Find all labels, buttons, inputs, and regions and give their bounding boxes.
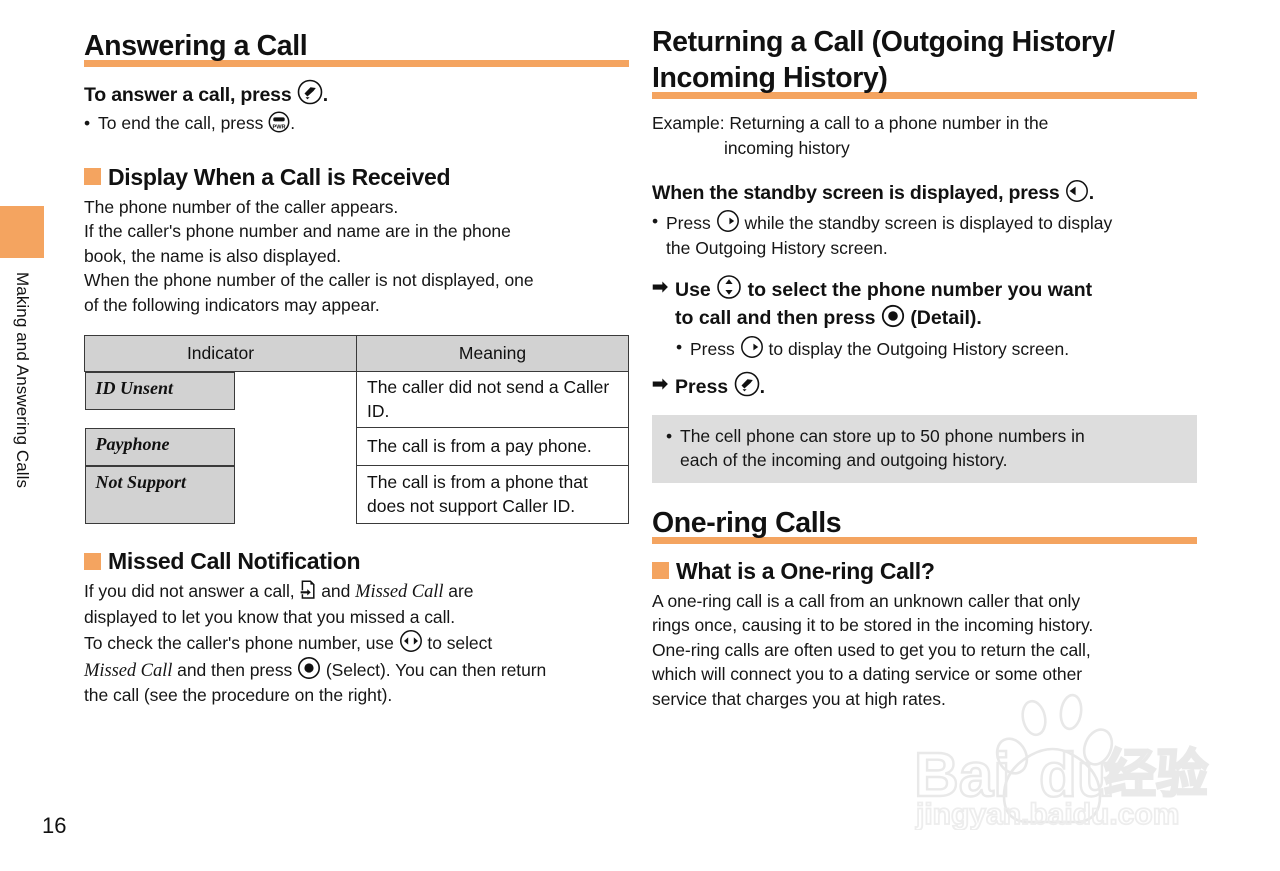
missed-line1-b: and [321,581,350,601]
section-onering-paragraph: A one-ring call is a call from an unknow… [652,589,1197,712]
svg-text:jingyan.baidu.com: jingyan.baidu.com [915,798,1179,830]
missed-line4-a: and then press [177,660,292,680]
table-cell-indicator: Payphone [85,428,235,466]
returning-call-title-line1: Returning a Call (Outgoing History/ [652,26,1115,58]
table-cell-indicator: Not Support [85,466,235,524]
pwr-key-icon: PWR [268,111,290,133]
right-key-icon [740,335,764,359]
svg-text:Bai: Bai [914,741,1010,810]
standby-screen-step: When the standby screen is displayed, pr… [652,179,1197,207]
missed-line2: displayed to let you know that you misse… [84,607,455,627]
paw-print-icon [992,694,1117,822]
returning-call-title: Returning a Call (Outgoing History/ Inco… [652,24,1197,96]
table-cell-meaning: The call is from a phone that does not s… [357,466,629,524]
answer-call-step-text: To answer a call, press [84,84,291,106]
orange-square-icon [84,168,101,185]
center-select-key-icon [881,304,905,328]
returning-call-title-line2: Incoming History) [652,62,887,94]
table-row: ID Unsent The caller did not send a Call… [85,372,629,428]
baidu-watermark-url: jingyan.baidu.com [915,798,1179,830]
section-onering-heading: What is a One-ring Call? [652,556,1197,586]
standby-bullet-line2: the Outgoing History screen. [666,238,888,258]
section-missed-paragraph: If you did not answer a call, and Missed… [84,579,629,708]
chapter-side-label: Making and Answering Calls [0,272,44,592]
select-number-line2-b: (Detail). [910,307,982,329]
section-display-paragraph: The phone number of the caller appears. … [84,195,629,318]
onering-line-1: A one-ring call is a call from an unknow… [652,591,1080,611]
missed-line5: the call (see the procedure on the right… [84,685,392,705]
missed-line3-b: to select [427,633,492,653]
section-missed-heading: Missed Call Notification [84,546,629,576]
display-line-5: of the following indicators may appear. [84,295,380,315]
display-line-4: When the phone number of the caller is n… [84,270,534,290]
display-line-2: If the caller's phone number and name ar… [84,221,511,241]
outgoing-history-bullet: • Press to display the Outgoing History … [676,335,1197,362]
note-bullet: • The cell phone can store up to 50 phon… [666,424,1183,472]
standby-bullet-text: Press while the standby screen is displa… [666,209,1197,260]
missed-call-term: Missed Call [355,582,443,602]
center-select-key-icon [297,656,321,680]
bullet-dot: • [652,209,666,260]
select-number-line2-a: to call and then press [675,307,875,329]
example-line1: Example: Returning a call to a phone num… [652,113,1048,133]
missed-call-icon [299,580,316,599]
example-line2: incoming history [724,136,850,161]
indicator-table: Indicator Meaning ID Unsent The caller d… [84,335,629,524]
up-down-key-icon [716,274,742,300]
note-bullet-text: The cell phone can store up to 50 phone … [680,424,1183,472]
standby-screen-step-period: . [1089,182,1094,204]
orange-square-icon [84,553,101,570]
table-header-indicator: Indicator [85,336,357,372]
end-call-bullet-period: . [290,113,295,133]
press-call-step: ➡ Press . [652,371,1197,401]
outgoing-history-bullet-text: Press to display the Outgoing History sc… [690,335,1197,362]
standby-bullet-a: Press [666,213,711,233]
section-display-heading: Display When a Call is Received [84,162,629,192]
onering-line-2: rings once, causing it to be stored in t… [652,615,1093,635]
press-call-a: Press [675,376,728,398]
table-cell-meaning: The caller did not send a Caller ID. [357,372,629,428]
section-onering-heading-text: What is a One-ring Call? [676,556,935,586]
section-display-heading-text: Display When a Call is Received [108,162,450,192]
standby-bullet-b: while the standby screen is displayed to… [744,213,1112,233]
right-key-icon [716,209,740,233]
missed-line1-c: are [448,581,473,601]
end-call-bullet-prefix: To end the call, press [98,113,263,133]
right-column: Returning a Call (Outgoing History/ Inco… [652,28,1197,711]
left-key-icon [1065,179,1089,203]
baidu-watermark: Bai du 经验 jingyan.baidu.com [908,690,1218,830]
page-number: 16 [42,813,66,839]
send-call-key-icon [297,79,323,105]
press-call-period: . [760,376,765,398]
onering-line-5: service that charges you at high rates. [652,689,946,709]
table-cell-meaning: The call is from a pay phone. [357,428,629,466]
chapter-side-label-text: Making and Answering Calls [0,272,44,488]
select-number-a: Use [675,279,711,301]
arrow-right-icon: ➡ [652,371,675,399]
onering-line-4: which will connect you to a dating servi… [652,664,1082,684]
section-missed-heading-text: Missed Call Notification [108,546,360,576]
table-row: Not Support The call is from a phone tha… [85,466,629,524]
standby-screen-step-text: When the standby screen is displayed, pr… [652,182,1060,204]
table-header-meaning: Meaning [357,336,629,372]
page-title: Answering a Call [84,28,629,64]
outgoing-bullet-a: Press [690,339,735,359]
chapter-thumb-tab [0,206,44,258]
select-number-step: ➡ Use to select the phone number you wan… [652,274,1197,332]
svg-text:经验: 经验 [1104,745,1208,805]
note-box: • The cell phone can store up to 50 phon… [652,415,1197,483]
missed-line4-b: (Select). You can then return [326,660,546,680]
missed-call-term: Missed Call [84,661,172,681]
left-right-key-icon [399,629,423,653]
note-line1: The cell phone can store up to 50 phone … [680,426,1085,446]
end-call-bullet: • To end the call, press PWR . [84,111,629,136]
missed-line1-a: If you did not answer a call, [84,581,295,601]
outgoing-bullet-b: to display the Outgoing History screen. [768,339,1069,359]
example-text: Example: Returning a call to a phone num… [652,111,1197,160]
note-line2: each of the incoming and outgoing histor… [680,450,1008,470]
press-call-step-text: Press . [675,371,1197,401]
svg-text:du: du [1039,741,1115,810]
answer-call-step-period: . [323,84,328,106]
display-line-1: The phone number of the caller appears. [84,197,398,217]
table-header-row: Indicator Meaning [85,336,629,372]
bullet-dot: • [676,335,690,362]
end-call-bullet-text: To end the call, press PWR . [98,111,629,136]
one-ring-calls-title: One-ring Calls [652,505,1197,541]
arrow-right-icon: ➡ [652,274,675,302]
baidu-jingyan-cn: 经验 [1104,745,1208,805]
table-row: Payphone The call is from a pay phone. [85,428,629,466]
display-line-3: book, the name is also displayed. [84,246,341,266]
orange-square-icon [652,562,669,579]
select-number-b: to select the phone number you want [748,279,1093,301]
table-cell-indicator: ID Unsent [85,372,235,410]
answer-call-step: To answer a call, press . [84,79,629,109]
standby-bullet: • Press while the standby screen is disp… [652,209,1197,260]
send-call-key-icon [734,371,760,397]
bullet-dot: • [84,111,98,136]
svg-text:PWR: PWR [273,124,286,130]
select-number-step-text: Use to select the phone number you want … [675,274,1197,332]
missed-line3-a: To check the caller's phone number, use [84,633,394,653]
bullet-dot: • [666,424,680,472]
onering-line-3: One-ring calls are often used to get you… [652,640,1091,660]
baidu-wordmark: Bai du [914,741,1115,810]
left-column: Answering a Call To answer a call, press… [84,28,629,708]
